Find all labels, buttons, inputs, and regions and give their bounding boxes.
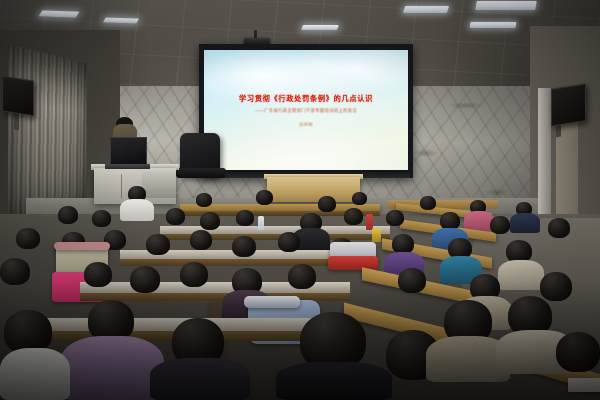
audience-head [180,262,208,287]
audience-head [166,208,185,225]
audience-body [150,358,250,400]
audience-body [276,362,392,400]
ceiling-light-icon [39,10,80,17]
audience-head [146,234,170,255]
paper-sheet [568,378,600,392]
wall-speaker-left [2,75,34,116]
slide-subtitle: ——广东省行政主管部门干部专题培训班上的发言 [204,108,408,114]
audience-head [548,218,570,238]
wall-speaker-right [551,83,586,127]
speaker-mount [14,111,19,130]
audience-head [420,196,436,210]
presenter-laptop [110,137,147,167]
ceiling-light-icon [301,25,339,30]
audience-head [288,264,316,289]
audience-body [120,199,154,221]
audience-head [318,196,336,212]
slide-text-block: 学习贯彻《行政处罚条例》的几点认识 ——广东省行政主管部门干部专题培训班上的发言… [204,94,408,128]
water-bottle [372,228,381,242]
audience-head [0,258,30,285]
audience-body [510,213,540,233]
audience-head [344,208,363,225]
audience-head [232,236,256,257]
audience-head [130,266,160,293]
wooden-lectern [267,177,360,202]
audience-head [92,210,111,227]
chair-seat [176,168,226,178]
audience-head [236,210,254,226]
audience-head [490,216,510,234]
audience-head [398,268,426,293]
water-bottle [258,216,264,230]
handbag-strap [54,242,110,250]
ceiling-light-icon [475,1,537,10]
audience-head [200,212,220,230]
audience-head [386,210,404,226]
audience-body [0,348,70,400]
slide-author: 邓声明 [204,122,408,128]
audience-head [352,192,367,205]
audience-head [278,232,300,252]
audience-body [60,336,164,400]
audience-head [196,193,212,207]
audience-body [498,260,544,290]
audience-head [84,262,112,287]
audience-head [256,190,273,205]
audience-head [190,230,212,250]
laptop-keyboard [105,164,150,169]
audience-head [58,206,78,224]
lecture-hall-photo: 学习贯彻《行政处罚条例》的几点认识 ——广东省行政主管部门干部专题培训班上的发言… [0,0,600,400]
projection-screen: 学习贯彻《行政处罚条例》的几点认识 ——广东省行政主管部门干部专题培训班上的发言… [199,44,413,178]
backpack-flap [244,296,300,308]
audience-head [556,332,600,372]
audience-head [540,272,572,301]
screen-surface: 学习贯彻《行政处罚条例》的几点认识 ——广东省行政主管部门干部专题培训班上的发言… [204,50,408,170]
ceiling-light-icon [403,6,449,13]
ceiling-light-icon [469,22,516,28]
audience-head [392,234,414,254]
stage-equipment-box [142,172,176,198]
red-white-bag [328,256,378,270]
audience-head [16,228,40,249]
slide-title: 学习贯彻《行政处罚条例》的几点认识 [204,94,408,103]
